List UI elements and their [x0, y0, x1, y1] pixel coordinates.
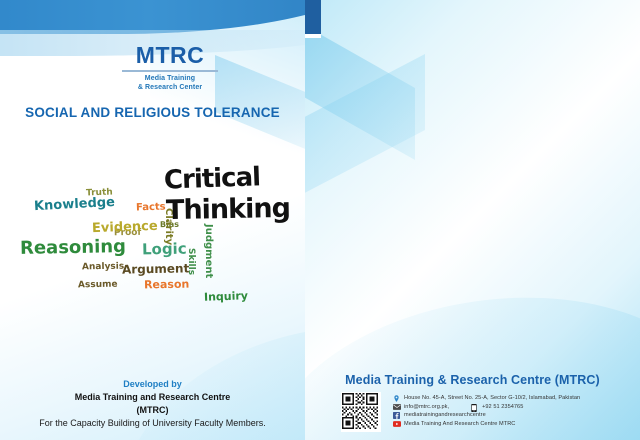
credits-developed-by: Developed by: [0, 378, 305, 391]
word-cloud-word: Reasoning: [20, 236, 126, 259]
contact-youtube[interactable]: Media Training And Research Centre MTRC: [404, 421, 515, 429]
qr-code: [341, 392, 381, 432]
word-cloud-word: Assume: [78, 280, 118, 291]
contact-block: House No. 45-A, Street No. 25-A, Sector …: [393, 395, 633, 429]
spine-white-gap: [305, 34, 321, 38]
contact-phone[interactable]: +92 51 2354765: [482, 404, 523, 412]
word-cloud-word: Evidence: [92, 219, 158, 236]
contact-address: House No. 45-A, Street No. 25-A, Sector …: [404, 395, 580, 403]
logo-subtitle-line2: & Research Center: [120, 84, 220, 93]
youtube-icon[interactable]: [393, 421, 400, 428]
word-cloud-word: Argument: [122, 261, 189, 276]
cover-spread: MTRC Media Training & Research Center SO…: [0, 0, 640, 440]
spine-navy-block: [305, 0, 321, 34]
phone-icon: [471, 404, 478, 411]
word-cloud-word: Inquiry: [204, 289, 248, 304]
credits-organization: Media Training and Research Centre: [0, 391, 305, 404]
mtrc-logo: MTRC Media Training & Research Center: [120, 44, 220, 93]
word-cloud-word: Facts: [136, 201, 166, 213]
contact-facebook-row[interactable]: mediatrainingandresearchcentre: [393, 412, 633, 420]
credits-acronym: (MTRC): [0, 404, 305, 417]
cover-credits: Developed by Media Training and Research…: [0, 378, 305, 431]
facebook-icon[interactable]: [393, 412, 400, 419]
logo-divider: [122, 70, 218, 72]
word-cloud-word: Reason: [144, 278, 190, 292]
back-cover-organization: Media Training & Research Centre (MTRC): [305, 373, 640, 387]
word-cloud-word: Judgment: [203, 224, 214, 278]
front-cover-panel: MTRC Media Training & Research Center SO…: [0, 0, 305, 440]
logo-subtitle-line1: Media Training: [120, 75, 220, 84]
contact-youtube-row[interactable]: Media Training And Research Centre MTRC: [393, 421, 633, 429]
word-cloud-word-critical: Critical: [164, 162, 261, 195]
credits-purpose: For the Capacity Building of University …: [0, 417, 305, 431]
contact-email-phone-row: info@mtrc.org.pk, +92 51 2354765: [393, 404, 633, 412]
contact-email[interactable]: info@mtrc.org.pk,: [404, 404, 449, 412]
cover-title: SOCIAL AND RELIGIOUS TOLERANCE: [0, 105, 305, 120]
word-cloud-word: Logic: [142, 240, 187, 259]
email-icon: [393, 404, 400, 411]
word-cloud-word-thinking: Thinking: [166, 193, 290, 226]
word-cloud-word: Knowledge: [34, 195, 116, 214]
logo-wordmark: MTRC: [120, 44, 220, 67]
contact-facebook[interactable]: mediatrainingandresearchcentre: [404, 412, 486, 420]
word-cloud-image: Truth Knowledge Facts Bias Clarity Proof…: [14, 162, 294, 312]
location-pin-icon: [393, 395, 400, 402]
word-cloud-word: Analysis: [82, 262, 124, 273]
contact-address-row: House No. 45-A, Street No. 25-A, Sector …: [393, 395, 633, 403]
back-cover-panel: Media Training & Research Centre (MTRC): [305, 0, 640, 440]
